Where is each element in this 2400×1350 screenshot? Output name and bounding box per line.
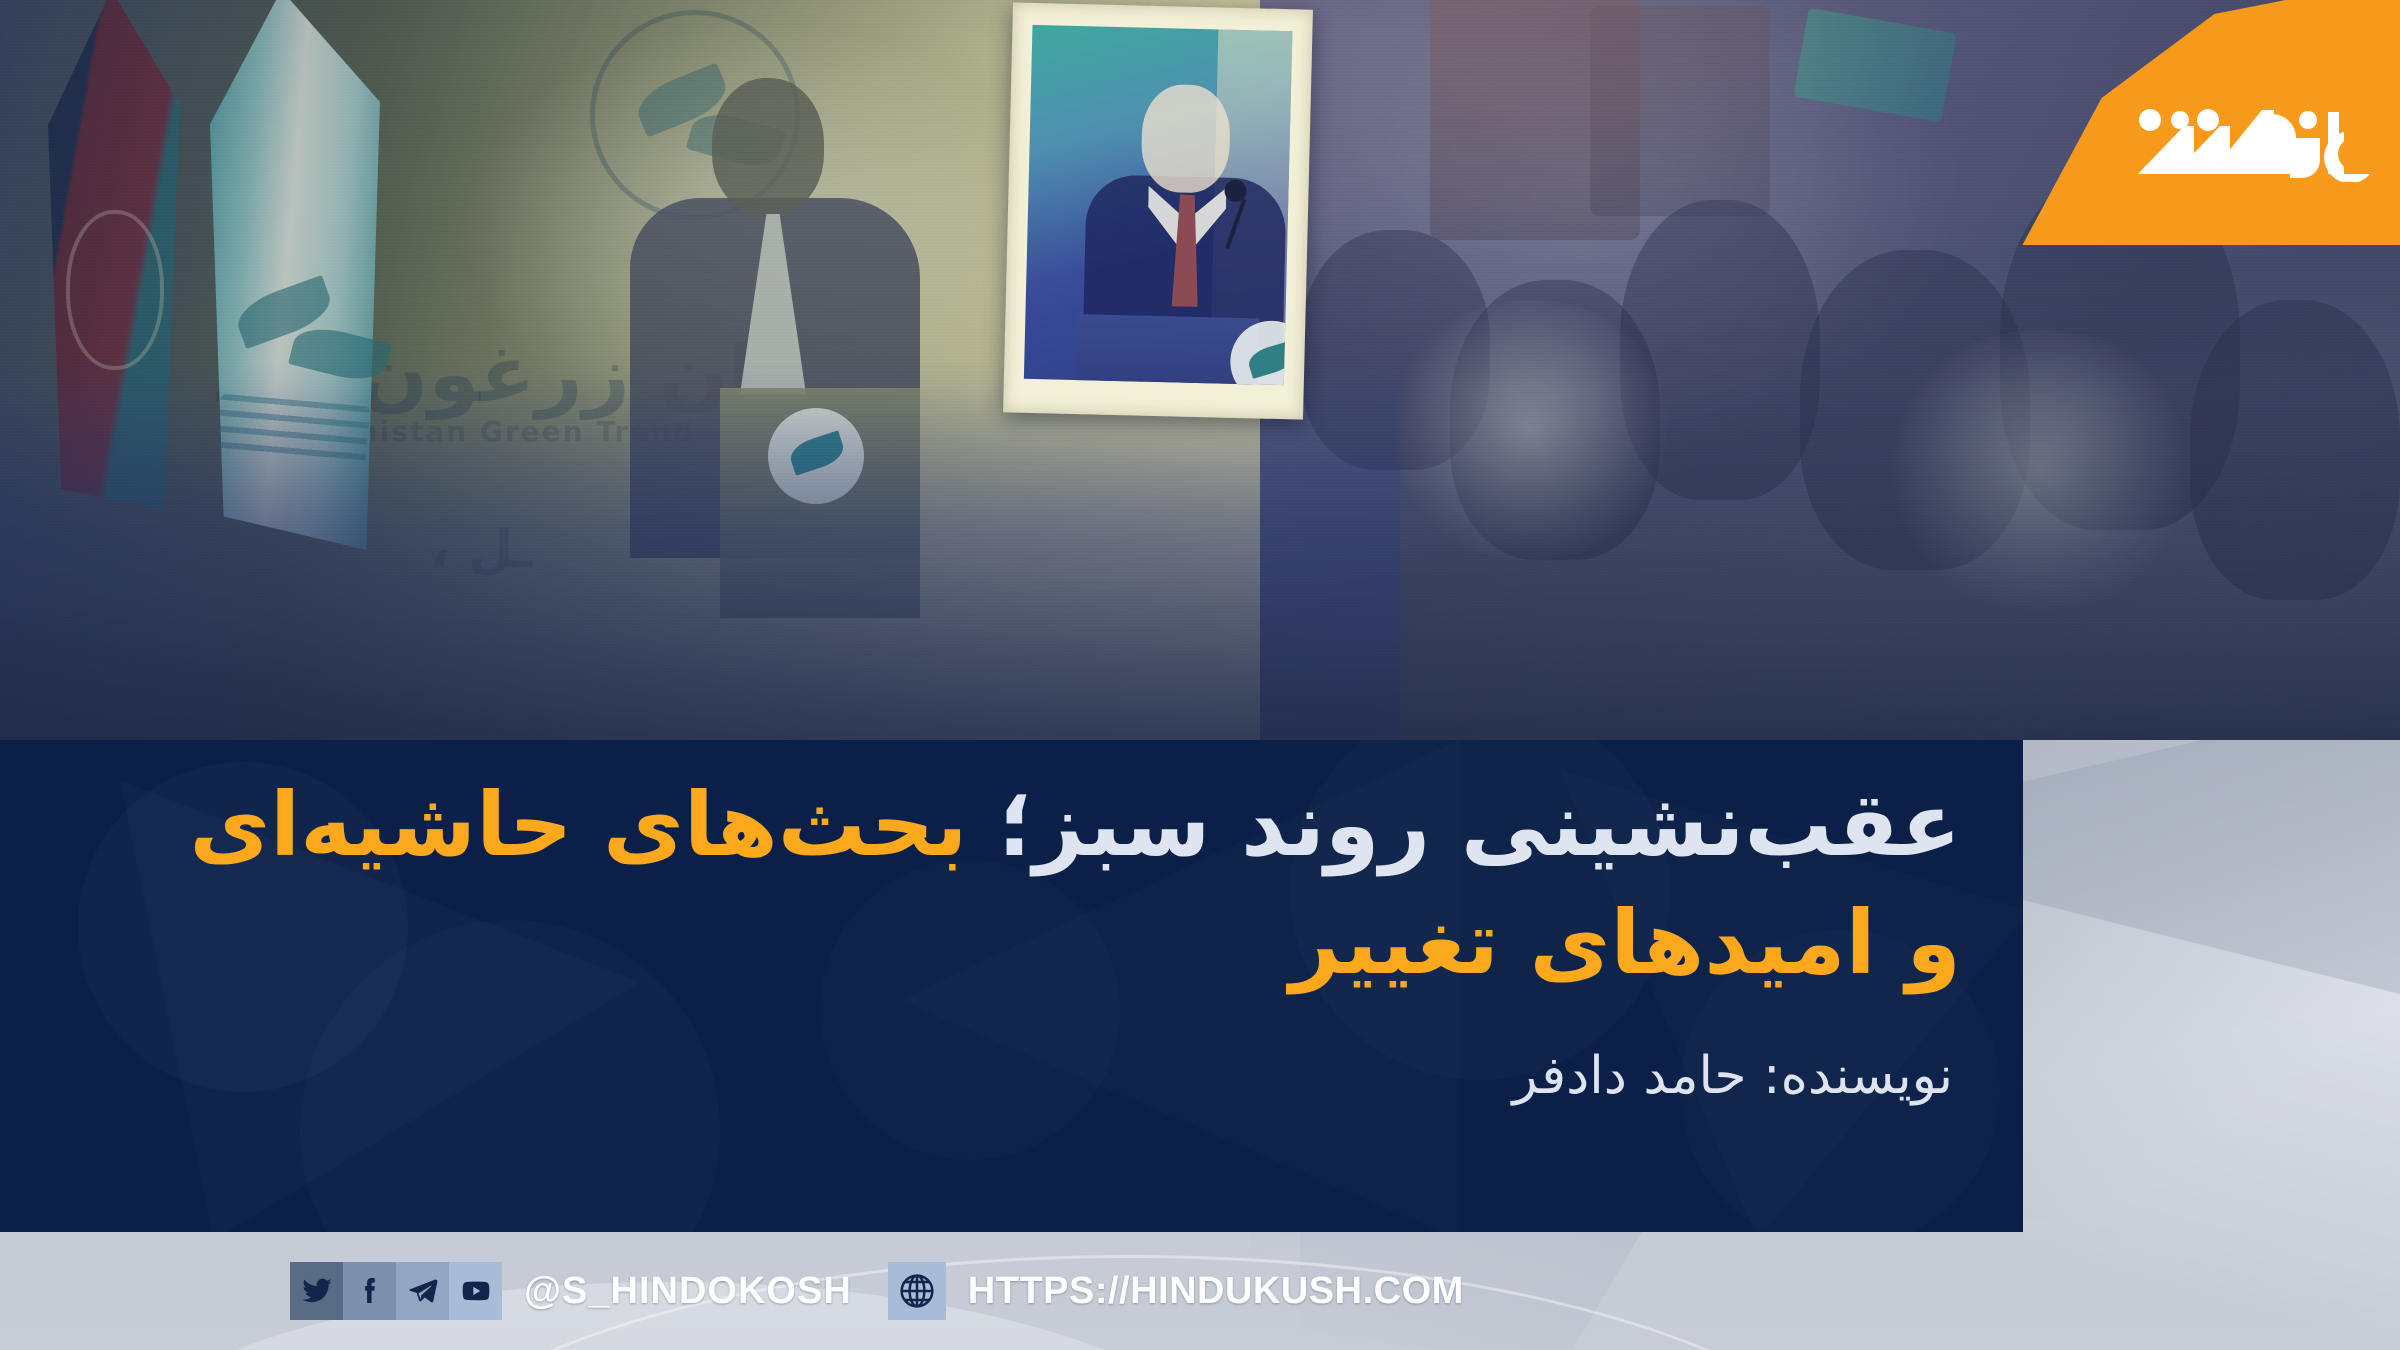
- framed-speaker-photo: [1003, 2, 1313, 419]
- hindukush-wordmark-icon: [2076, 86, 2376, 182]
- telegram-icon[interactable]: [396, 1262, 449, 1320]
- headline-line-2: و امیدهای تغییر: [70, 884, 1961, 1002]
- website-url[interactable]: HTTPS://HINDUKUSH.COM: [968, 1270, 1464, 1313]
- brand-logo[interactable]: [1980, 0, 2400, 245]
- inset-speaker-head: [1140, 84, 1231, 194]
- youtube-icon[interactable]: [449, 1262, 502, 1320]
- headline-line-1-accent: بحث‌های حاشیه‌ای: [189, 773, 967, 876]
- headline-line-1-main: عقب‌نشینی روند سبز؛: [967, 773, 1961, 876]
- footer-bar: @S_HINDOKOSH HTTPS://HINDUKUSH.COM: [0, 1232, 2400, 1350]
- headline-line-1: عقب‌نشینی روند سبز؛ بحث‌های حاشیه‌ای: [70, 766, 1961, 884]
- facebook-icon[interactable]: [343, 1262, 396, 1320]
- twitter-icon[interactable]: [290, 1262, 343, 1320]
- social-links: [290, 1262, 502, 1320]
- social-handle[interactable]: @S_HINDOKOSH: [524, 1270, 852, 1313]
- microphone-icon: [1224, 180, 1247, 203]
- globe-icon[interactable]: [888, 1262, 946, 1320]
- headline-panel: عقب‌نشینی روند سبز؛ بحث‌های حاشیه‌ای و ا…: [0, 740, 2023, 1232]
- news-card: ان زرغون بهـ Afghanistan Green Trend ـل …: [0, 0, 2400, 1350]
- page-title: عقب‌نشینی روند سبز؛ بحث‌های حاشیه‌ای و ا…: [0, 740, 2023, 1002]
- author-byline: نویسنده: حامد دادفر: [0, 1046, 2023, 1106]
- inset-photo: [1024, 25, 1293, 385]
